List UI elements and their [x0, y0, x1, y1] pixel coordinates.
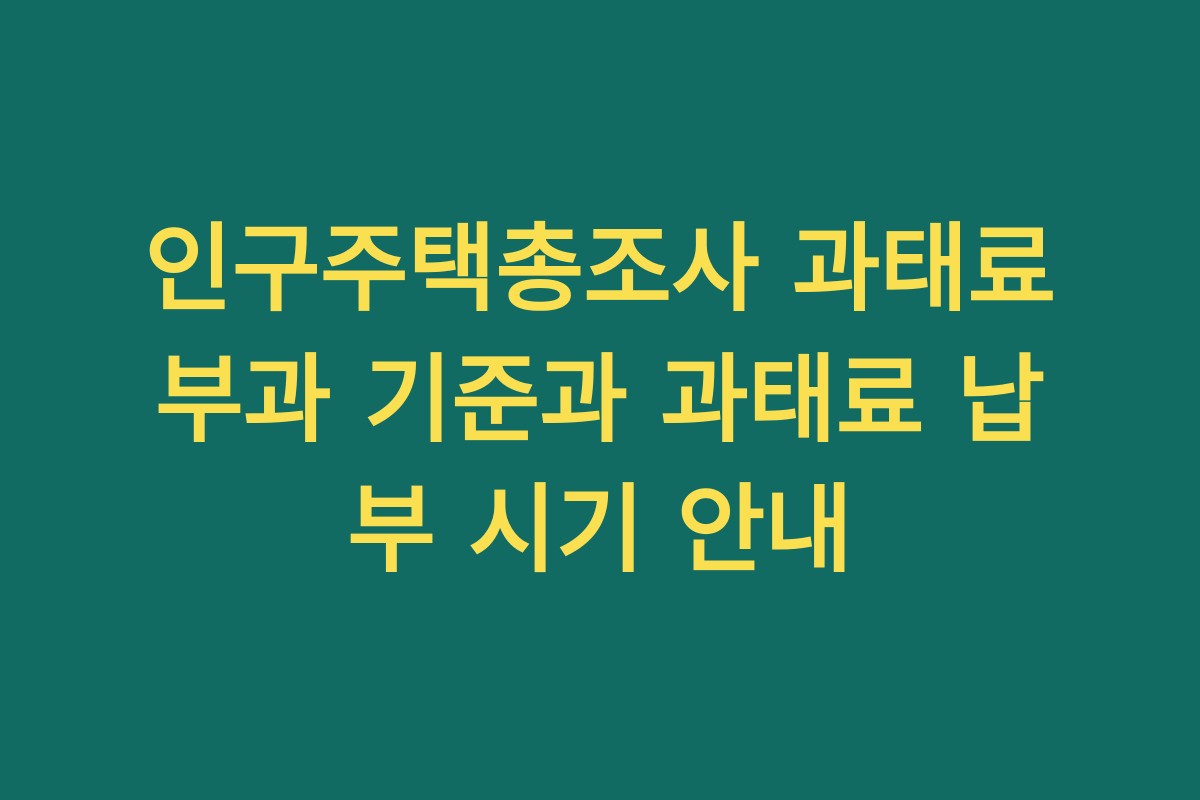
page-title-line-3: 부 시기 안내: [70, 465, 1130, 596]
banner-background: 인구주택총조사 과태료 부과 기준과 과태료 납 부 시기 안내: [0, 0, 1200, 800]
page-title: 인구주택총조사 과태료 부과 기준과 과태료 납 부 시기 안내: [70, 204, 1130, 596]
page-title-line-1: 인구주택총조사 과태료: [70, 204, 1130, 335]
page-title-line-2: 부과 기준과 과태료 납: [70, 335, 1130, 466]
